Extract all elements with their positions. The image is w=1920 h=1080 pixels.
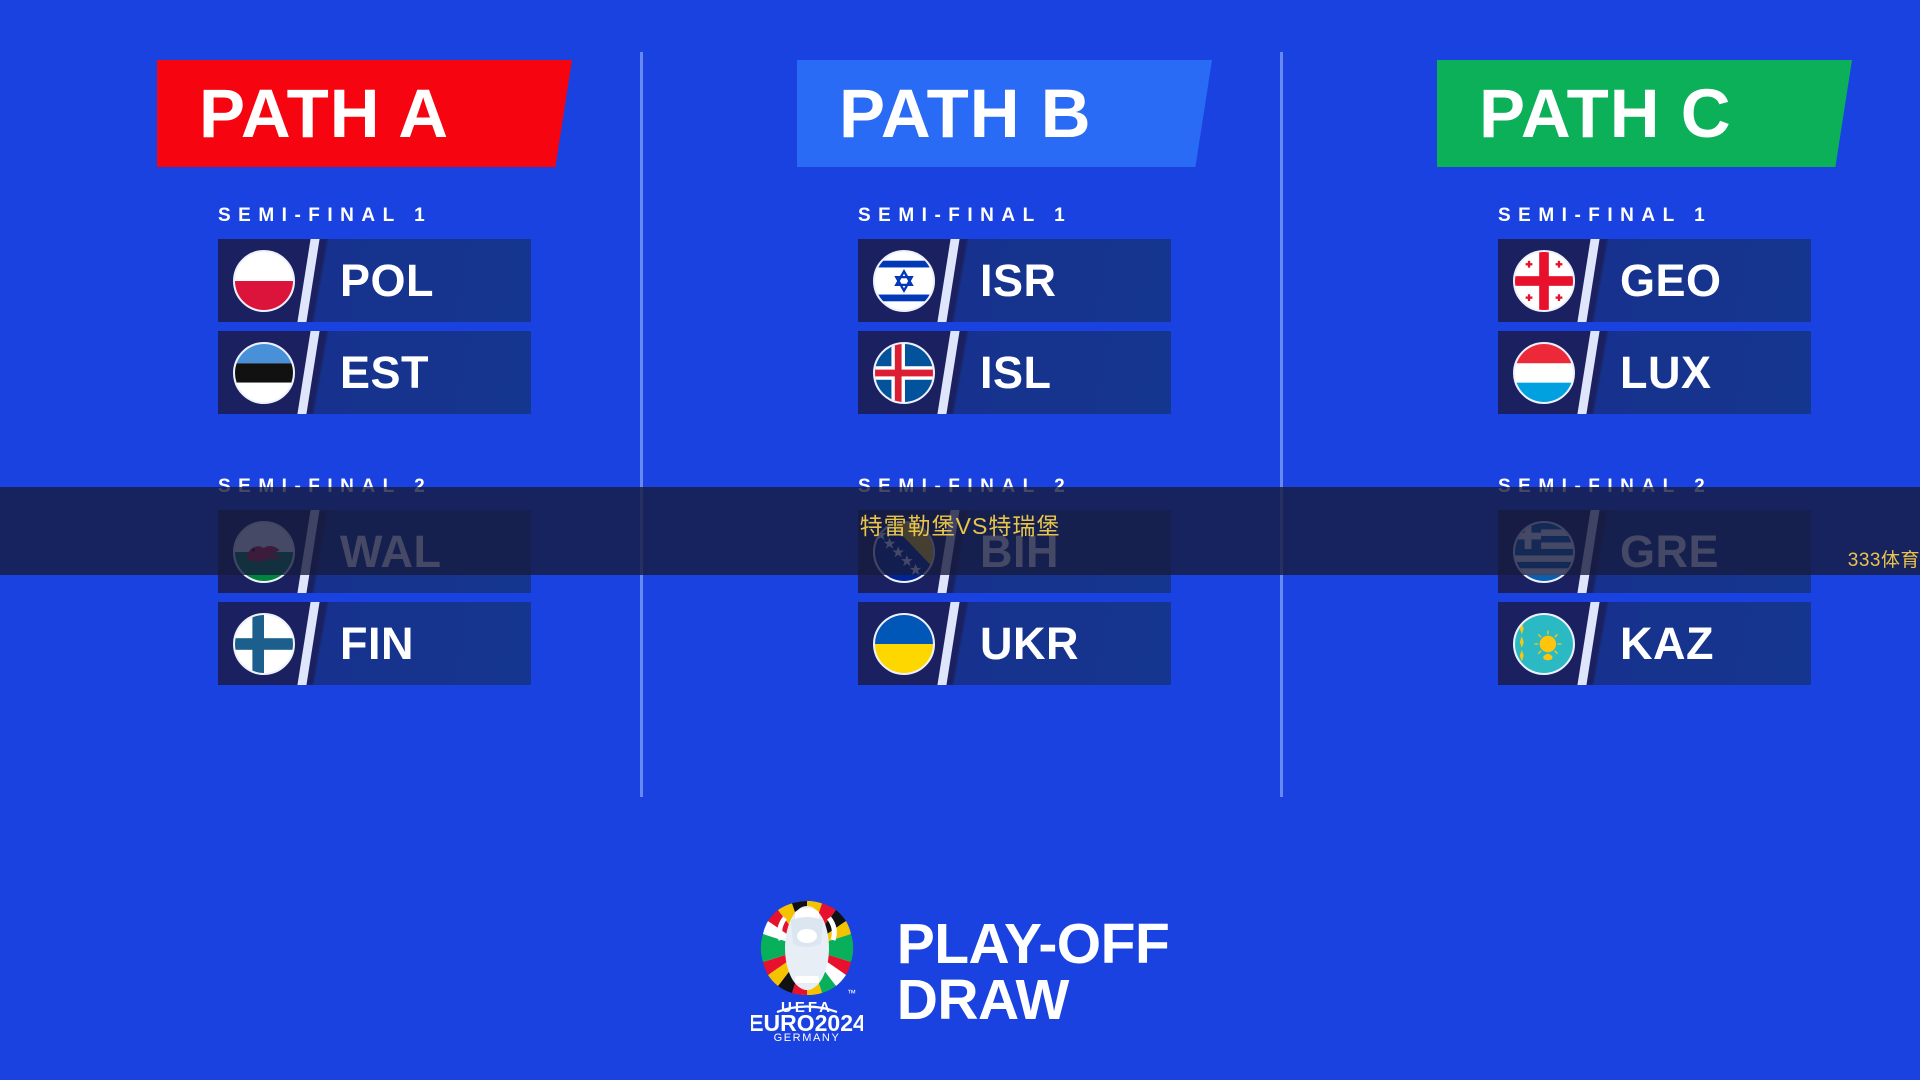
flag-finland-icon bbox=[218, 602, 310, 685]
path-b-badge: PATH B bbox=[797, 60, 1212, 167]
flag-poland-icon bbox=[218, 239, 310, 322]
playoff-title-line2: DRAW bbox=[897, 973, 1170, 1029]
column-divider bbox=[1280, 52, 1283, 797]
table-row[interactable]: EST bbox=[218, 331, 531, 414]
team-code: LUX bbox=[1620, 350, 1712, 395]
table-row[interactable]: LUX bbox=[1498, 331, 1811, 414]
flag-israel-icon bbox=[858, 239, 950, 322]
path-column-a: PATH A SEMI-FINAL 1 POL E bbox=[0, 0, 640, 810]
path-a-badge: PATH A bbox=[157, 60, 572, 167]
team-code: ISL bbox=[980, 350, 1052, 395]
team-code: KAZ bbox=[1620, 621, 1714, 666]
watermark-label: 333体育 bbox=[1848, 545, 1920, 572]
flag-estonia-icon bbox=[218, 331, 310, 414]
path-c-semifinal-2-label: SEMI-FINAL 2 bbox=[1498, 476, 1920, 498]
path-c-semifinal-1-teams: GEO LUX bbox=[1498, 239, 1920, 414]
path-c-label: PATH C bbox=[1437, 79, 1732, 148]
team-code: FIN bbox=[340, 621, 414, 666]
table-row[interactable]: GEO bbox=[1498, 239, 1811, 322]
path-b-semifinal-1-teams: ISR ISL bbox=[858, 239, 1280, 414]
table-row[interactable]: FIN bbox=[218, 602, 531, 685]
flag-ukraine-icon bbox=[858, 602, 950, 685]
flag-iceland-icon bbox=[858, 331, 950, 414]
team-code: POL bbox=[340, 258, 434, 303]
team-code: EST bbox=[340, 350, 429, 395]
germany-wordmark: GERMANY bbox=[773, 1032, 840, 1042]
column-divider bbox=[640, 52, 643, 797]
path-b-label: PATH B bbox=[797, 79, 1092, 148]
flag-luxembourg-icon bbox=[1498, 331, 1590, 414]
svg-text:™: ™ bbox=[847, 988, 856, 998]
table-row[interactable]: ISL bbox=[858, 331, 1171, 414]
path-column-b: PATH B SEMI-FINAL 1 ISR bbox=[640, 0, 1280, 810]
playoff-title-line1: PLAY-OFF bbox=[897, 917, 1170, 973]
overlay-caption: 特雷勒堡VS特瑞堡 bbox=[0, 507, 1920, 541]
table-row[interactable]: POL bbox=[218, 239, 531, 322]
path-c-badge: PATH C bbox=[1437, 60, 1852, 167]
path-column-c: PATH C SEMI-FINAL 1 bbox=[1280, 0, 1920, 810]
table-row[interactable]: UKR bbox=[858, 602, 1171, 685]
path-a-semifinal-2-label: SEMI-FINAL 2 bbox=[218, 476, 640, 498]
path-a-label: PATH A bbox=[157, 79, 449, 148]
table-row[interactable]: KAZ bbox=[1498, 602, 1811, 685]
bottom-branding: ™ UEFA EURO2024 GERMANY PLAY-OFF DRAW bbox=[0, 900, 1920, 1042]
path-b-semifinal-1-label: SEMI-FINAL 1 bbox=[858, 205, 1280, 227]
path-a-semifinal-1-label: SEMI-FINAL 1 bbox=[218, 205, 640, 227]
table-row[interactable]: ISR bbox=[858, 239, 1171, 322]
path-b-semifinal-2-label: SEMI-FINAL 2 bbox=[858, 476, 1280, 498]
paths-container: PATH A SEMI-FINAL 1 POL E bbox=[0, 0, 1920, 810]
euro-trophy-icon: ™ UEFA EURO2024 GERMANY bbox=[751, 900, 863, 1042]
team-code: ISR bbox=[980, 258, 1057, 303]
euro-2024-logo: ™ UEFA EURO2024 GERMANY bbox=[751, 900, 863, 1042]
team-code: GEO bbox=[1620, 258, 1722, 303]
page-title: PLAY-OFF DRAW bbox=[897, 917, 1170, 1029]
flag-georgia-icon bbox=[1498, 239, 1590, 322]
flag-kazakhstan-icon bbox=[1498, 602, 1590, 685]
path-c-semifinal-1-label: SEMI-FINAL 1 bbox=[1498, 205, 1920, 227]
team-code: UKR bbox=[980, 621, 1079, 666]
path-a-semifinal-1-teams: POL EST bbox=[218, 239, 640, 414]
